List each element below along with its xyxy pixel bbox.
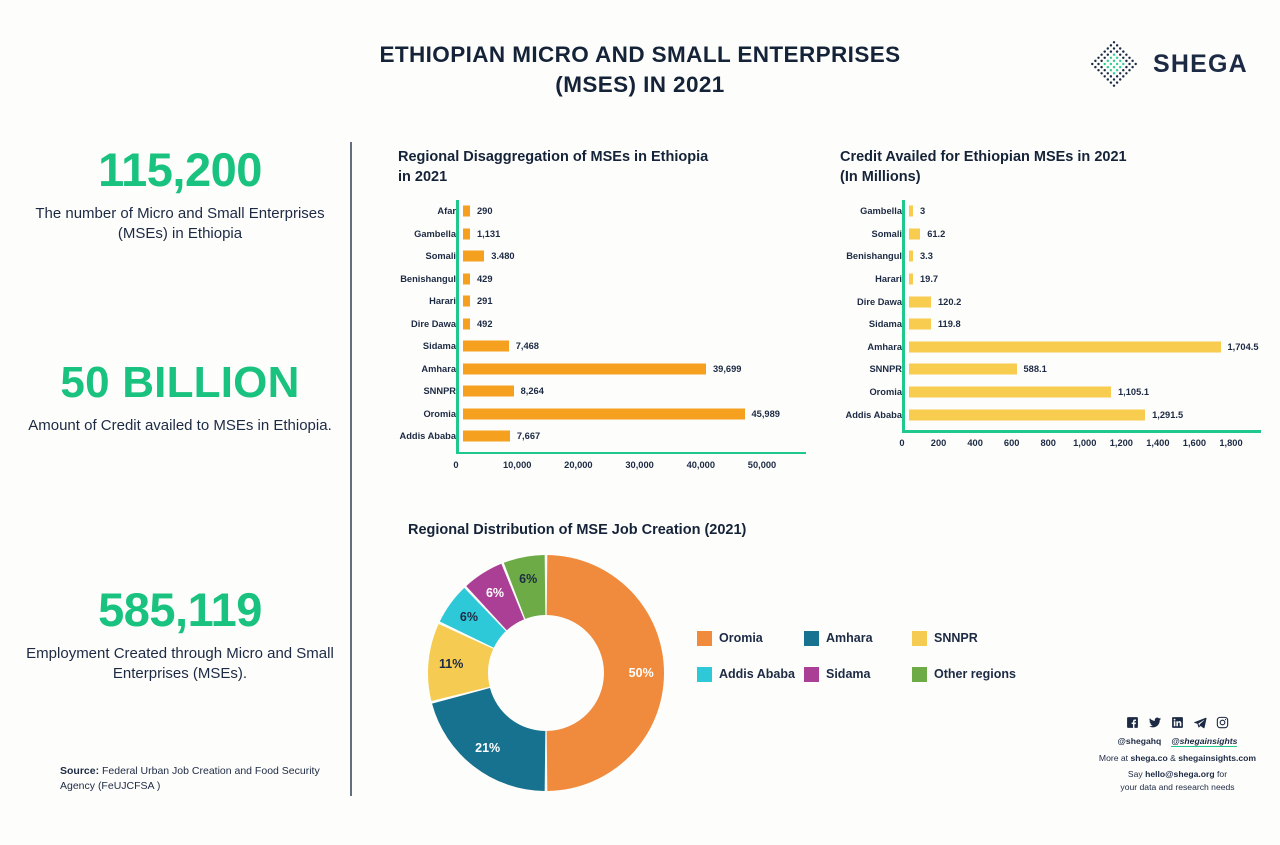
legend-item[interactable]: Amhara [804, 631, 873, 646]
chart-title-line1: Regional Disaggregation of MSEs in Ethio… [398, 148, 798, 168]
bar-value-label: 120.2 [938, 297, 961, 307]
donut-slice [432, 688, 545, 791]
legend-item[interactable]: Addis Ababa [697, 667, 795, 682]
bar-segment [463, 318, 470, 329]
bar-value-label: 3.480 [491, 251, 514, 261]
stat-description: Employment Created through Micro and Sma… [20, 644, 340, 684]
contact-line: Say hello@shega.org for your data and re… [1090, 768, 1265, 794]
chart-title-line1: Credit Availed for Ethiopian MSEs in 202… [840, 148, 1240, 168]
say-prefix: Say [1128, 769, 1145, 779]
bar-category-label: Oromia [840, 387, 909, 397]
legend-item[interactable]: Sidama [804, 667, 870, 682]
x-axis-tick-label: 1,600 [1183, 438, 1206, 448]
bar-segment [909, 319, 931, 330]
more-at-line: More at shega.co & shegainsights.com [1090, 752, 1265, 765]
donut-chart-job-creation: 50%21%11%6%6%6% [424, 551, 668, 795]
page-title-line2: (MSEs) IN 2021 [300, 70, 980, 100]
x-axis-tick-label: 10,000 [503, 460, 531, 470]
social-handles: @shegahq @shegainsights [1090, 736, 1265, 747]
x-axis-tick-label: 800 [1040, 438, 1056, 448]
x-axis-tick-label: 600 [1004, 438, 1020, 448]
instagram-icon[interactable] [1216, 716, 1229, 729]
x-axis-tick-label: 50,000 [748, 460, 776, 470]
chart-title-line2: (In Millions) [840, 168, 1240, 188]
bar-track: 120.2 [909, 290, 1250, 313]
legend-row: OromiaAmharaSNNPR [697, 628, 1027, 648]
bar-value-label: 39,699 [713, 364, 741, 374]
bar-value-label: 61.2 [927, 229, 945, 239]
bar-value-label: 3.3 [920, 251, 933, 261]
telegram-icon[interactable] [1193, 716, 1207, 729]
bar-value-label: 3 [920, 206, 925, 216]
brand-logo: SHEGA [1088, 38, 1248, 90]
source-note: Source: Federal Urban Job Creation and F… [60, 764, 325, 794]
bar-track: 61.2 [909, 223, 1250, 246]
x-axis-tick-label: 0 [899, 438, 904, 448]
bar-category-label: SNNPR [840, 364, 909, 374]
x-axis-tick-label: 40,000 [687, 460, 715, 470]
bar-category-label: Sidama [398, 341, 463, 351]
bar-track: 1,291.5 [909, 403, 1250, 426]
x-axis-tick-label: 20,000 [564, 460, 592, 470]
bar-chart-regional-mses: Afar290Gambella1,131Somali3.480Benishang… [398, 200, 798, 468]
bar-track: 19.7 [909, 268, 1250, 291]
bar-segment [463, 408, 745, 419]
y-axis-line [902, 200, 905, 430]
stat-block-credit: 50 BILLION Amount of Credit availed to M… [20, 361, 340, 436]
bar-category-label: Somali [398, 251, 463, 261]
legend-label: Sidama [826, 667, 870, 681]
legend-swatch [697, 631, 712, 646]
x-axis-line [902, 430, 1261, 433]
chart-title-line2: in 2021 [398, 168, 798, 188]
bar-category-label: Somali [840, 229, 909, 239]
bar-chart-credit-availed: Gambella3Somali61.2Benishangul3.3Harari1… [840, 200, 1250, 468]
bar-value-label: 8,264 [521, 386, 544, 396]
bar-track: 429 [463, 268, 798, 291]
bar-segment [463, 431, 510, 442]
bar-track: 290 [463, 200, 798, 223]
donut-slice-percent: 6% [519, 572, 537, 586]
handle-secondary[interactable]: @shegainsights [1171, 736, 1237, 747]
legend-item[interactable]: Other regions [912, 667, 1016, 682]
bar-segment [463, 386, 514, 397]
bar-segment [463, 206, 470, 217]
donut-slice-percent: 11% [439, 657, 463, 671]
say-suffix: for [1215, 769, 1227, 779]
bar-category-label: SNNPR [398, 386, 463, 396]
legend-swatch [912, 631, 927, 646]
x-axis-tick-label: 200 [931, 438, 947, 448]
bar-value-label: 1,131 [477, 229, 500, 239]
bar-track: 291 [463, 290, 798, 313]
bar-segment [463, 296, 470, 307]
site-shegainsights[interactable]: shegainsights.com [1178, 753, 1256, 763]
stat-value: 50 BILLION [20, 361, 340, 405]
bar-value-label: 429 [477, 274, 493, 284]
bar-segment [909, 296, 931, 307]
legend-row: Addis AbabaSidamaOther regions [697, 664, 1027, 684]
bar-track: 39,699 [463, 358, 798, 381]
chart-title-regional-mses: Regional Disaggregation of MSEs in Ethio… [398, 148, 798, 187]
bar-track: 8,264 [463, 380, 798, 403]
bar-category-label: Sidama [840, 319, 909, 329]
donut-slice-percent: 6% [460, 610, 478, 624]
legend-label: Other regions [934, 667, 1016, 681]
bar-track: 119.8 [909, 313, 1250, 336]
legend-item[interactable]: SNNPR [912, 631, 978, 646]
bar-segment [909, 409, 1145, 420]
chart-title-job-creation: Regional Distribution of MSE Job Creatio… [408, 522, 746, 538]
legend-swatch [697, 667, 712, 682]
legend-item[interactable]: Oromia [697, 631, 763, 646]
bar-segment [909, 364, 1017, 375]
legend-label: SNNPR [934, 631, 978, 645]
bar-segment [463, 251, 484, 262]
linkedin-icon[interactable] [1171, 716, 1184, 729]
stat-description: The number of Micro and Small Enterprise… [20, 204, 340, 244]
contact-line2: your data and research needs [1090, 781, 1265, 794]
site-shega-co[interactable]: shega.co [1130, 753, 1167, 763]
bar-segment [463, 228, 470, 239]
bar-segment [909, 228, 920, 239]
more-prefix: More at [1099, 753, 1131, 763]
bar-track: 3.3 [909, 245, 1250, 268]
legend-label: Oromia [719, 631, 763, 645]
infographic-canvas: ETHIOPIAN MICRO AND SMALL ENTERPRISES (M… [0, 0, 1280, 845]
x-axis-tick-label: 0 [453, 460, 458, 470]
stat-block-enterprises: 115,200 The number of Micro and Small En… [20, 146, 340, 244]
bar-value-label: 7,468 [516, 341, 539, 351]
twitter-icon[interactable] [1148, 716, 1162, 729]
bar-value-label: 588.1 [1024, 364, 1047, 374]
bar-segment [909, 251, 913, 262]
bar-category-label: Gambella [398, 229, 463, 239]
x-axis-line [456, 452, 806, 455]
stat-value: 585,119 [20, 586, 340, 633]
legend-label: Amhara [826, 631, 873, 645]
bar-track: 1,131 [463, 223, 798, 246]
bar-category-label: Amhara [398, 364, 463, 374]
source-text: Federal Urban Job Creation and Food Secu… [60, 765, 320, 792]
bar-value-label: 7,667 [517, 431, 540, 441]
vertical-divider [350, 142, 352, 796]
donut-legend: OromiaAmharaSNNPRAddis AbabaSidamaOther … [697, 628, 1027, 700]
legend-label: Addis Ababa [719, 667, 795, 681]
donut-slice-percent: 50% [629, 666, 654, 680]
page-title: ETHIOPIAN MICRO AND SMALL ENTERPRISES (M… [300, 40, 980, 100]
bar-segment [463, 273, 470, 284]
y-axis-line [456, 200, 459, 452]
bar-category-label: Dire Dawa [840, 297, 909, 307]
bar-value-label: 45,989 [752, 409, 780, 419]
bar-category-label: Benishangul [398, 274, 463, 284]
bar-category-label: Addis Ababa [398, 431, 463, 441]
facebook-icon[interactable] [1126, 716, 1139, 729]
legend-swatch [804, 631, 819, 646]
bar-value-label: 19.7 [920, 274, 938, 284]
bar-track: 3 [909, 200, 1250, 223]
bar-segment [463, 341, 509, 352]
bar-track: 7,468 [463, 335, 798, 358]
x-axis-tick-label: 400 [967, 438, 983, 448]
bar-segment [909, 341, 1221, 352]
x-axis-tick-label: 30,000 [625, 460, 653, 470]
bar-value-label: 1,105.1 [1118, 387, 1149, 397]
bar-category-label: Oromia [398, 409, 463, 419]
bar-track: 1,105.1 [909, 381, 1250, 404]
bar-value-label: 492 [477, 319, 493, 329]
chart-title-credit-availed: Credit Availed for Ethiopian MSEs in 202… [840, 148, 1240, 187]
social-footer: @shegahq @shegainsights More at shega.co… [1090, 716, 1265, 794]
x-axis-tick-label: 1,000 [1073, 438, 1096, 448]
bar-category-label: Harari [398, 296, 463, 306]
bar-track: 3.480 [463, 245, 798, 268]
donut-slice-percent: 21% [475, 741, 500, 755]
bar-track: 588.1 [909, 358, 1250, 381]
bar-value-label: 291 [477, 296, 493, 306]
bar-value-label: 119.8 [938, 319, 961, 329]
bar-category-label: Amhara [840, 342, 909, 352]
page-title-line1: ETHIOPIAN MICRO AND SMALL ENTERPRISES [300, 40, 980, 70]
bar-segment [909, 387, 1111, 398]
x-axis-tick-label: 1,200 [1110, 438, 1133, 448]
bar-category-label: Gambella [840, 206, 909, 216]
more-amp: & [1168, 753, 1179, 763]
bar-category-label: Dire Dawa [398, 319, 463, 329]
bar-category-label: Afar [398, 206, 463, 216]
bar-value-label: 1,704.5 [1228, 342, 1259, 352]
bar-category-label: Harari [840, 274, 909, 284]
shega-diamond-logo-icon [1088, 38, 1140, 90]
bar-category-label: Addis Ababa [840, 410, 909, 420]
x-axis-tick-label: 1,800 [1219, 438, 1242, 448]
bar-track: 45,989 [463, 403, 798, 426]
legend-swatch [804, 667, 819, 682]
stat-block-employment: 585,119 Employment Created through Micro… [20, 586, 340, 684]
x-axis-tick-label: 1,400 [1146, 438, 1169, 448]
stat-value: 115,200 [20, 146, 340, 193]
source-label: Source: [60, 765, 99, 777]
bar-track: 7,667 [463, 425, 798, 448]
social-icon-row [1090, 716, 1265, 729]
donut-slice-percent: 6% [486, 586, 504, 600]
bar-segment [909, 206, 913, 217]
brand-name: SHEGA [1153, 50, 1248, 79]
bar-segment [463, 363, 706, 374]
bar-value-label: 290 [477, 206, 493, 216]
contact-email[interactable]: hello@shega.org [1145, 769, 1215, 779]
handle-primary[interactable]: @shegahq [1118, 736, 1162, 747]
legend-swatch [912, 667, 927, 682]
bar-track: 492 [463, 313, 798, 336]
bar-category-label: Benishangul [840, 251, 909, 261]
bar-value-label: 1,291.5 [1152, 410, 1183, 420]
bar-segment [909, 274, 913, 285]
stat-description: Amount of Credit availed to MSEs in Ethi… [20, 416, 340, 436]
bar-track: 1,704.5 [909, 336, 1250, 359]
